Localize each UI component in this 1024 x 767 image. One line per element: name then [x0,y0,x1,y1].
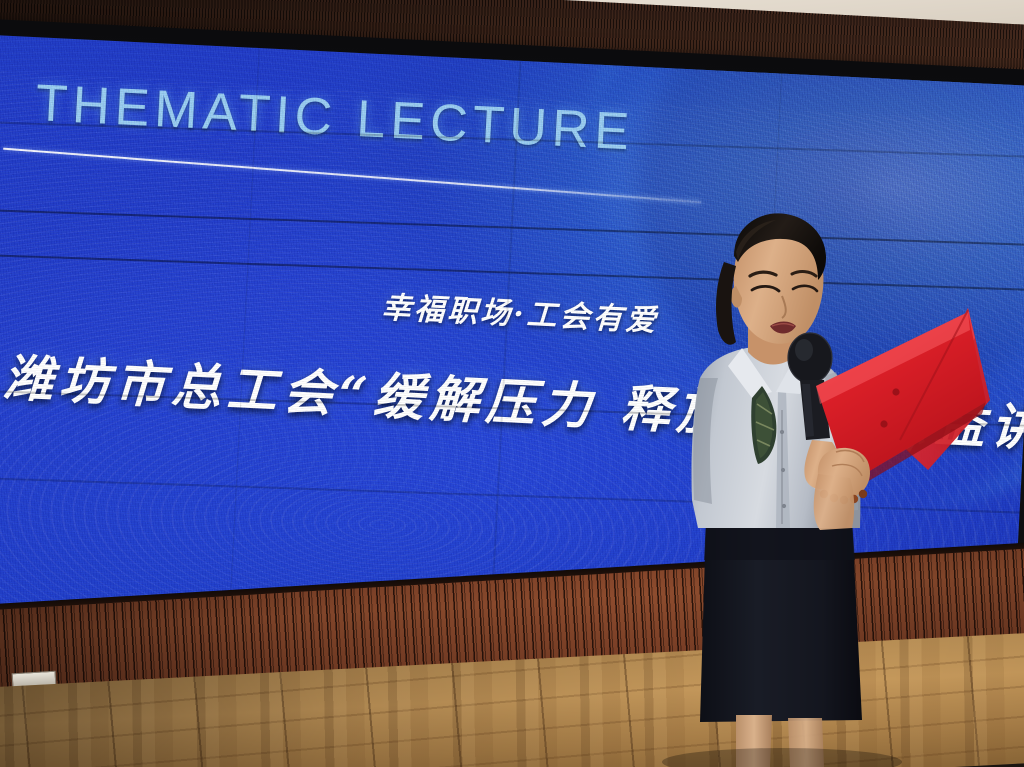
photo-scene: THEMATIC LECTURE 幸福职场·工会有爱 潍坊市总工会“缓解压力 释… [0,0,1024,767]
